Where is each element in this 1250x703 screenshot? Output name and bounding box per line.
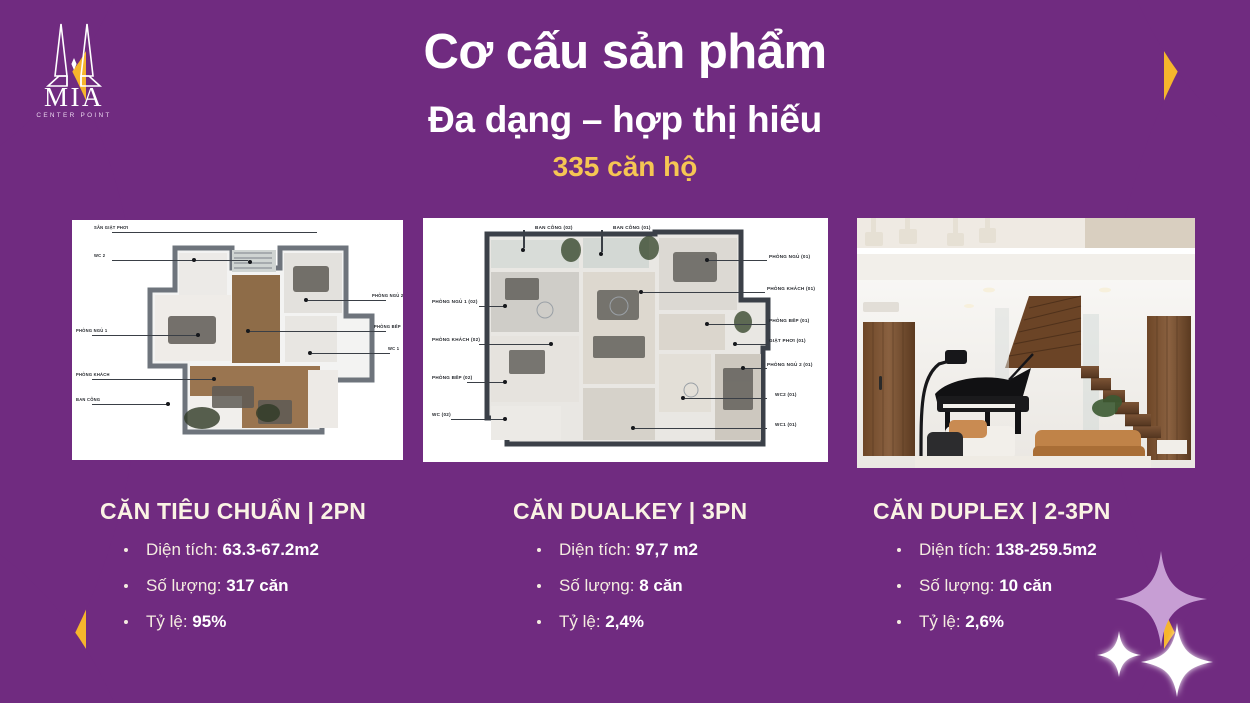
duplex-interior-svg: [857, 218, 1195, 468]
spec-title-standard: CĂN TIÊU CHUẨN | 2PN: [100, 498, 500, 525]
spec-item-text: Tỷ lệ: 2,6%: [919, 611, 1004, 634]
spec-list-standard: Diện tích: 63.3-67.2m2 Số lượng: 317 căn…: [100, 539, 500, 634]
spec-item-text: Tỷ lệ: 2,4%: [559, 611, 644, 634]
leader-line: [451, 419, 505, 420]
leader-line: [250, 331, 386, 332]
fp-label-phong-khach: PHÒNG KHÁCH: [76, 372, 110, 377]
spec-item-area: Diện tích: 97,7 m2: [513, 539, 893, 562]
leader-line: [112, 232, 317, 233]
fp-label-dk-giat-phoi-01: GIẶT PHƠI (01): [769, 338, 806, 343]
spec-item-ratio: Tỷ lệ: 2,4%: [513, 611, 893, 634]
fp-label-dk-phong-bep-01: PHÒNG BẾP (01): [769, 318, 809, 323]
sparkle-star-icon: [1095, 545, 1250, 700]
spec-item-ratio: Tỷ lệ: 95%: [100, 611, 500, 634]
bullet-dot-icon: [537, 584, 541, 588]
fp-label-ban-cong-01: BAN CÔNG (01): [613, 225, 651, 230]
leader-line: [685, 398, 767, 399]
leader-dot: [166, 402, 170, 406]
spec-item-text: Số lượng: 317 căn: [146, 575, 289, 598]
spec-item-quantity: Số lượng: 317 căn: [100, 575, 500, 598]
leader-dot: [304, 298, 308, 302]
sparkle-medium-icon: [1141, 623, 1213, 697]
leader-line: [92, 335, 200, 336]
sparkle-large-icon: [1115, 551, 1207, 647]
leader-line: [709, 260, 767, 261]
leader-line: [467, 382, 505, 383]
spec-item-text: Diện tích: 138-259.5m2: [919, 539, 1097, 562]
spec-item-text: Số lượng: 10 căn: [919, 575, 1052, 598]
fp-label-ban-cong: BAN CÔNG: [76, 397, 100, 402]
bullet-dot-icon: [537, 620, 541, 624]
leader-line: [312, 353, 390, 354]
fp-label-wc1: WC 1: [388, 346, 399, 351]
bullet-dot-icon: [897, 620, 901, 624]
leader-line: [308, 300, 386, 301]
spec-item-quantity: Số lượng: 8 căn: [513, 575, 893, 598]
spec-title-duplex: CĂN DUPLEX | 2-3PN: [873, 498, 1243, 525]
leader-line: [709, 324, 767, 325]
fp-label-phong-ngu-2: PHÒNG NGỦ 2: [372, 293, 403, 298]
leader-dot: [308, 351, 312, 355]
spec-item-text: Tỷ lệ: 95%: [146, 611, 226, 634]
leader-line: [737, 344, 767, 345]
duplex-interior-render: [857, 218, 1195, 468]
fp-label-dk-wc2-01: WC2 (01): [775, 392, 797, 397]
spec-title-dualkey: CĂN DUALKEY | 3PN: [513, 498, 893, 525]
leader-dot: [503, 380, 507, 384]
fp-label-wc2: WC 2: [94, 253, 105, 258]
spec-columns: CĂN TIÊU CHUẨN | 2PN Diện tích: 63.3-67.…: [0, 498, 1250, 688]
duplex-interior-image: [857, 218, 1195, 468]
fp-label-san-giat-phoi: SÂN GIẶT PHƠI: [94, 225, 128, 230]
leader-line: [112, 260, 248, 261]
spec-item-area: Diện tích: 63.3-67.2m2: [100, 539, 500, 562]
leader-dot: [521, 248, 525, 252]
leader-line: [92, 379, 214, 380]
spec-item-text: Số lượng: 8 căn: [559, 575, 683, 598]
leader-line: [523, 230, 525, 248]
spec-column-standard: CĂN TIÊU CHUẨN | 2PN Diện tích: 63.3-67.…: [100, 498, 500, 647]
floorplan-dualkey-image: BAN CÔNG (02) BAN CÔNG (01) PHÒNG NGỦ 1 …: [423, 218, 828, 462]
leader-line: [643, 292, 765, 293]
page-title: Cơ cấu sản phẩm: [0, 24, 1250, 82]
bullet-dot-icon: [124, 620, 128, 624]
leader-dot: [549, 342, 553, 346]
bullet-dot-icon: [537, 548, 541, 552]
fp-label-dk-phong-ngu-2-01: PHÒNG NGỦ 2 (01): [767, 362, 813, 367]
fp-label-dk-phong-khach-01: PHÒNG KHÁCH (01): [767, 286, 815, 291]
bullet-dot-icon: [897, 584, 901, 588]
fp-label-dk-phong-bep-02: PHÒNG BẾP (02): [432, 375, 472, 380]
leader-line: [479, 344, 551, 345]
fp-label-dk-phong-ngu-01: PHÒNG NGỦ (01): [769, 254, 810, 259]
leader-dot: [246, 329, 250, 333]
leader-line: [635, 428, 767, 429]
fp-label-ban-cong-02: BAN CÔNG (02): [535, 225, 573, 230]
leader-dot: [503, 417, 507, 421]
leader-line: [745, 368, 767, 369]
floorplan-standard-image: SÂN GIẶT PHƠI WC 2 PHÒNG NGỦ 1 PHÒNG KHÁ…: [72, 220, 403, 460]
page-subtitle: Đa dạng – hợp thị hiếu: [0, 98, 1250, 142]
bullet-dot-icon: [124, 548, 128, 552]
unit-count: 335 căn hộ: [0, 150, 1250, 184]
header-block: Cơ cấu sản phẩm Đa dạng – hợp thị hiếu 3…: [0, 24, 1250, 184]
floorplan-standard-drawing: SÂN GIẶT PHƠI WC 2 PHÒNG NGỦ 1 PHÒNG KHÁ…: [72, 220, 403, 460]
leader-line: [479, 306, 505, 307]
fp-label-dk-wc1-01: WC1 (01): [775, 422, 797, 427]
leader-line: [601, 230, 603, 252]
fp-label-phong-bep: PHÒNG BẾP: [374, 324, 401, 329]
spec-item-text: Diện tích: 97,7 m2: [559, 539, 698, 562]
fp-label-phong-ngu-1: PHÒNG NGỦ 1: [76, 328, 107, 333]
floorplan-dualkey-svg: [423, 218, 828, 462]
leader-dot: [248, 260, 252, 264]
sparkle-small-icon: [1097, 631, 1141, 677]
slide-canvas: MIA CENTER POINT Cơ cấu sản phẩm Đa dạng…: [0, 0, 1250, 703]
leader-line: [92, 404, 170, 405]
leader-dot: [212, 377, 216, 381]
fp-label-dk-wc-02: WC (02): [432, 412, 451, 417]
spec-item-text: Diện tích: 63.3-67.2m2: [146, 539, 319, 562]
fp-label-dk-phong-khach-02: PHÒNG KHÁCH (02): [432, 337, 480, 342]
sparkle-decor: [1095, 545, 1250, 700]
bullet-dot-icon: [124, 584, 128, 588]
leader-dot: [192, 258, 196, 262]
spec-column-dualkey: CĂN DUALKEY | 3PN Diện tích: 97,7 m2 Số …: [513, 498, 893, 647]
spec-list-dualkey: Diện tích: 97,7 m2 Số lượng: 8 căn Tỷ lệ…: [513, 539, 893, 634]
leader-dot: [196, 333, 200, 337]
floorplan-standard-svg: [72, 220, 403, 460]
bullet-dot-icon: [897, 548, 901, 552]
fp-label-dk-phong-ngu-1-02: PHÒNG NGỦ 1 (02): [432, 299, 478, 304]
leader-dot: [503, 304, 507, 308]
leader-dot: [599, 252, 603, 256]
floorplan-dualkey-drawing: BAN CÔNG (02) BAN CÔNG (01) PHÒNG NGỦ 1 …: [423, 218, 828, 462]
